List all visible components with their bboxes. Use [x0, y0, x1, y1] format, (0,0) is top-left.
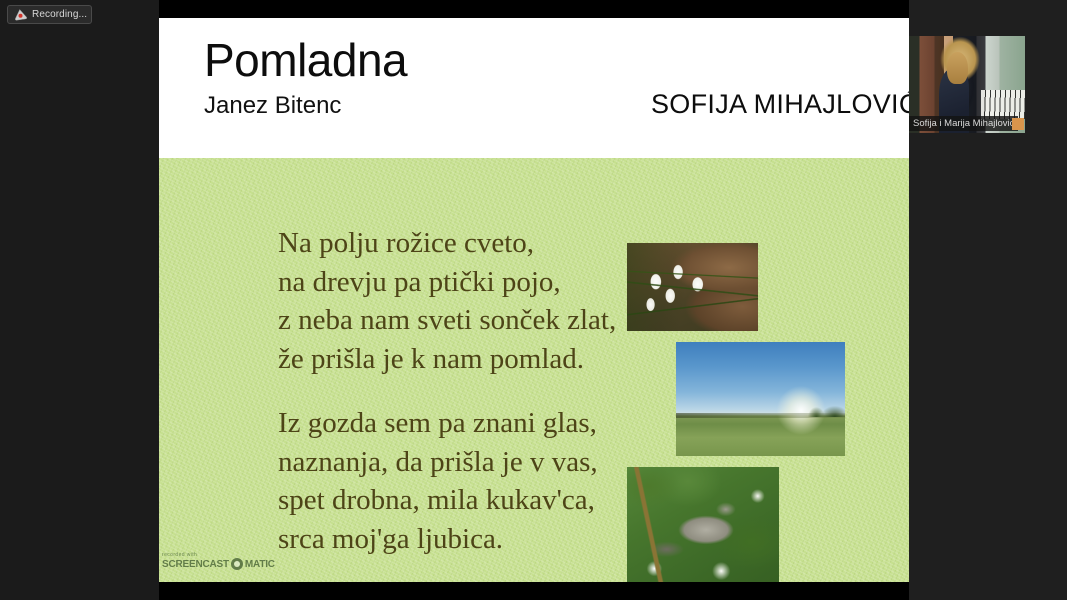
watermark-word-left: SCREENCAST [162, 559, 229, 570]
recording-indicator[interactable]: Recording... [7, 5, 92, 24]
presenter-name: SOFIJA MIHAJLOVIĆ [651, 91, 909, 118]
poem-stanza: Iz gozda sem pa znani glas, naznanja, da… [278, 404, 628, 558]
recording-dot-icon [14, 9, 27, 21]
watermark-word-right: MATIC [245, 559, 275, 570]
poem-line: že prišla je k nam pomlad. [278, 340, 628, 379]
screencast-o-matic-watermark: recorded with SCREENCAST MATIC [160, 552, 260, 576]
cuckoo-bird-photo [627, 467, 779, 582]
participant-name-label: Sofija i Marija Mihajlovic [909, 116, 1018, 131]
poem-text: Na polju rožice cveto, na drevju pa ptič… [278, 224, 628, 559]
poem-stanza: Na polju rožice cveto, na drevju pa ptič… [278, 224, 628, 378]
person-hair [947, 52, 968, 85]
meeting-window: Recording... Pomladna Janez Bitenc SOFIJ… [0, 0, 1067, 600]
poem-line: z neba nam sveti sonček zlat, [278, 301, 628, 340]
shared-slide[interactable]: Pomladna Janez Bitenc SOFIJA MIHAJLOVIĆ … [159, 18, 909, 582]
poem-line: Iz gozda sem pa znani glas, [278, 404, 628, 443]
slide-title: Pomladna [204, 37, 407, 83]
watermark-o-icon [231, 558, 243, 570]
sunny-field-photo [676, 342, 845, 456]
poem-line: na drevju pa ptički pojo, [278, 263, 628, 302]
poem-line: naznanja, da prišla je v vas, [278, 443, 628, 482]
recording-label: Recording... [32, 10, 87, 20]
snowdrop-flowers-photo [627, 243, 758, 331]
poem-line: srca moj'ga ljubica. [278, 520, 628, 559]
poem-line: spet drobna, mila kukav'ca, [278, 481, 628, 520]
slide-header: Pomladna Janez Bitenc SOFIJA MIHAJLOVIĆ [159, 18, 909, 158]
poem-line: Na polju rožice cveto, [278, 224, 628, 263]
participant-status-badge [1012, 118, 1024, 130]
participant-name-text: Sofija i Marija Mihajlovic [913, 119, 1014, 129]
slide-body: Na polju rožice cveto, na drevju pa ptič… [159, 158, 909, 582]
slide-subtitle: Janez Bitenc [204, 94, 341, 118]
